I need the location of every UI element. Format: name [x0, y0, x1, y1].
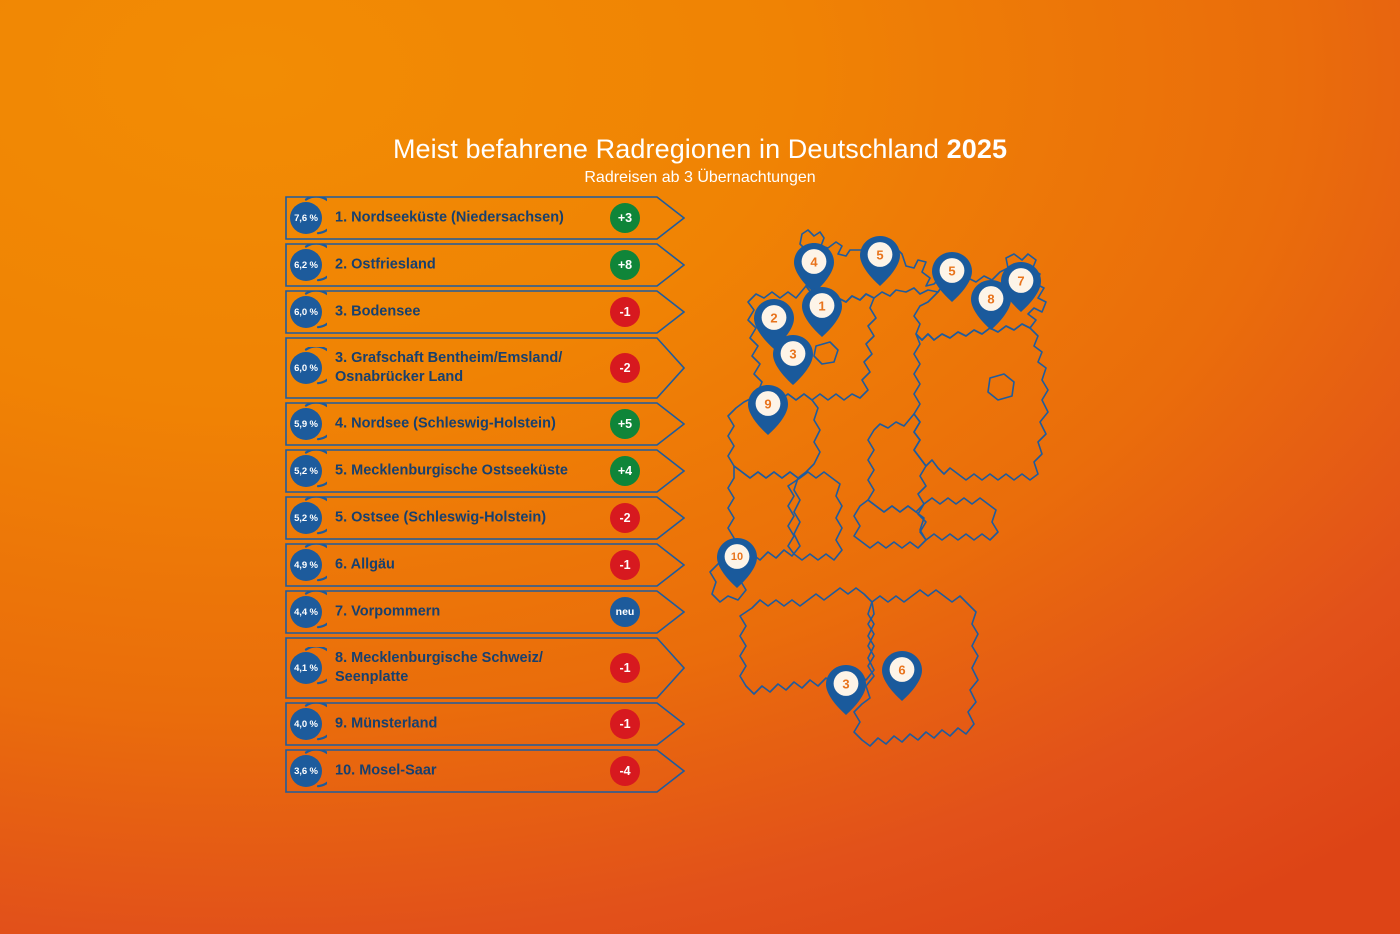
rank-number: 4. — [335, 416, 347, 432]
germany-map: 4557812391036 — [690, 228, 1100, 768]
title-main-text: Meist befahrene Radregionen in Deutschla… — [393, 134, 947, 164]
change-badge: -2 — [610, 353, 640, 383]
map-pin-number: 6 — [898, 663, 905, 678]
percentage-badge: 4,9 % — [285, 544, 327, 586]
ranking-row: 7,6 %1. Nordseeküste (Niedersachsen)+3 — [285, 196, 685, 240]
change-badge: neu — [610, 597, 640, 627]
percentage-value: 6,0 % — [290, 352, 322, 384]
rank-number: 3. — [335, 350, 347, 366]
map-pin-number: 10 — [731, 551, 743, 563]
map-pin-number: 3 — [842, 677, 849, 692]
percentage-badge: 3,6 % — [285, 750, 327, 792]
change-badge: -2 — [610, 503, 640, 533]
percentage-badge: 5,2 % — [285, 497, 327, 539]
map-pin-number: 1 — [818, 299, 825, 314]
region-label: 3. Bodensee — [335, 303, 603, 322]
region-name: Ostfriesland — [351, 257, 436, 273]
ranking-row: 4,4 %7. Vorpommernneu — [285, 590, 685, 634]
region-label: 3. Grafschaft Bentheim/Emsland/ Osnabrüc… — [335, 349, 603, 387]
rank-number: 5. — [335, 463, 347, 479]
region-label: 1. Nordseeküste (Niedersachsen) — [335, 209, 603, 228]
map-pin[interactable]: 3 — [773, 335, 813, 385]
map-pin-number: 2 — [770, 311, 777, 326]
change-badge: +4 — [610, 456, 640, 486]
percentage-badge: 6,0 % — [285, 291, 327, 333]
map-pin[interactable]: 9 — [748, 385, 788, 435]
change-badge: +3 — [610, 203, 640, 233]
ranking-row: 5,9 %4. Nordsee (Schleswig-Holstein)+5 — [285, 402, 685, 446]
region-label: 10. Mosel-Saar — [335, 762, 603, 781]
percentage-badge: 7,6 % — [285, 197, 327, 239]
percentage-value: 6,2 % — [290, 249, 322, 281]
change-badge: -4 — [610, 756, 640, 786]
percentage-value: 4,1 % — [290, 652, 322, 684]
map-pin[interactable]: 6 — [882, 651, 922, 701]
ranking-row: 5,2 %5. Ostsee (Schleswig-Holstein)-2 — [285, 496, 685, 540]
region-name: Vorpommern — [351, 604, 440, 620]
map-pin-number: 5 — [948, 264, 955, 279]
rank-number: 2. — [335, 257, 347, 273]
rank-number: 7. — [335, 604, 347, 620]
map-pin-number: 7 — [1017, 274, 1024, 289]
region-label: 9. Münsterland — [335, 715, 603, 734]
region-name: Nordsee (Schleswig-Holstein) — [351, 416, 556, 432]
map-pin[interactable]: 3 — [826, 665, 866, 715]
percentage-value: 4,0 % — [290, 708, 322, 740]
title-year: 2025 — [947, 134, 1007, 164]
percentage-value: 5,2 % — [290, 455, 322, 487]
ranking-row: 4,9 %6. Allgäu-1 — [285, 543, 685, 587]
percentage-value: 6,0 % — [290, 296, 322, 328]
region-name: Allgäu — [351, 557, 395, 573]
region-label: 7. Vorpommern — [335, 603, 603, 622]
header: Meist befahrene Radregionen in Deutschla… — [0, 133, 1400, 188]
percentage-value: 5,2 % — [290, 502, 322, 534]
region-label: 8. Mecklenburgische Schweiz/ Seenplatte — [335, 649, 603, 687]
ranking-row: 4,0 %9. Münsterland-1 — [285, 702, 685, 746]
map-pin-number: 9 — [764, 397, 771, 412]
change-badge: -1 — [610, 550, 640, 580]
region-label: 5. Mecklenburgische Ostseeküste — [335, 462, 603, 481]
ranking-row: 6,0 %3. Bodensee-1 — [285, 290, 685, 334]
region-name: Ostsee (Schleswig-Holstein) — [351, 510, 546, 526]
percentage-value: 4,4 % — [290, 596, 322, 628]
map-pin-number: 4 — [810, 255, 818, 270]
change-badge: +8 — [610, 250, 640, 280]
rank-number: 5. — [335, 510, 347, 526]
change-badge: +5 — [610, 409, 640, 439]
map-pin-number: 5 — [876, 248, 883, 263]
map-pin-number: 8 — [987, 292, 994, 307]
rank-number: 1. — [335, 210, 347, 226]
region-label: 2. Ostfriesland — [335, 256, 603, 275]
map-pin[interactable]: 5 — [860, 236, 900, 286]
percentage-badge: 5,9 % — [285, 403, 327, 445]
region-label: 5. Ostsee (Schleswig-Holstein) — [335, 509, 603, 528]
region-name: Mosel-Saar — [359, 763, 436, 779]
ranking-row: 3,6 %10. Mosel-Saar-4 — [285, 749, 685, 793]
region-name: Münsterland — [351, 716, 437, 732]
rank-number: 9. — [335, 716, 347, 732]
percentage-badge: 6,0 % — [285, 347, 327, 389]
change-badge: -1 — [610, 653, 640, 683]
ranking-row: 4,1 %8. Mecklenburgische Schweiz/ Seenpl… — [285, 637, 685, 699]
region-label: 4. Nordsee (Schleswig-Holstein) — [335, 415, 603, 434]
percentage-badge: 4,0 % — [285, 703, 327, 745]
region-label: 6. Allgäu — [335, 556, 603, 575]
page-subtitle: Radreisen ab 3 Übernachtungen — [0, 168, 1400, 188]
percentage-value: 3,6 % — [290, 755, 322, 787]
percentage-value: 5,9 % — [290, 408, 322, 440]
infographic-canvas: Meist befahrene Radregionen in Deutschla… — [0, 0, 1400, 934]
map-pin[interactable]: 5 — [932, 252, 972, 302]
region-name: Bodensee — [351, 304, 420, 320]
region-name: Grafschaft Bentheim/Emsland/ Osnabrücker… — [335, 350, 562, 385]
rank-number: 10. — [335, 763, 355, 779]
percentage-value: 7,6 % — [290, 202, 322, 234]
ranking-row: 6,0 %3. Grafschaft Bentheim/Emsland/ Osn… — [285, 337, 685, 399]
map-pin[interactable]: 1 — [802, 287, 842, 337]
rank-number: 8. — [335, 650, 347, 666]
percentage-value: 4,9 % — [290, 549, 322, 581]
percentage-badge: 4,4 % — [285, 591, 327, 633]
percentage-badge: 4,1 % — [285, 647, 327, 689]
map-pin[interactable]: 8 — [971, 280, 1011, 330]
map-pin[interactable]: 10 — [717, 538, 757, 588]
map-pin-number: 3 — [789, 347, 796, 362]
percentage-badge: 5,2 % — [285, 450, 327, 492]
map-pin[interactable]: 4 — [794, 243, 834, 293]
page-title: Meist befahrene Radregionen in Deutschla… — [0, 133, 1400, 165]
region-name: Mecklenburgische Ostseeküste — [351, 463, 568, 479]
region-name: Nordseeküste (Niedersachsen) — [351, 210, 564, 226]
percentage-badge: 6,2 % — [285, 244, 327, 286]
rank-number: 3. — [335, 304, 347, 320]
region-name: Mecklenburgische Schweiz/ Seenplatte — [335, 650, 543, 685]
ranking-row: 6,2 %2. Ostfriesland+8 — [285, 243, 685, 287]
ranking-row: 5,2 %5. Mecklenburgische Ostseeküste+4 — [285, 449, 685, 493]
ranking-list: 7,6 %1. Nordseeküste (Niedersachsen)+36,… — [285, 196, 685, 796]
change-badge: -1 — [610, 709, 640, 739]
change-badge: -1 — [610, 297, 640, 327]
rank-number: 6. — [335, 557, 347, 573]
